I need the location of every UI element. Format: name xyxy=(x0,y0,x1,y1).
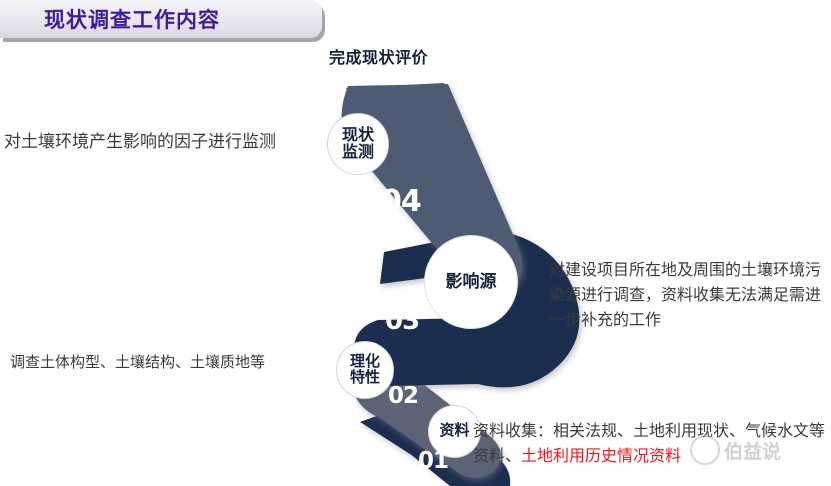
step-number-04: 04 xyxy=(381,184,421,219)
diagram-top-caption: 完成现状评价 xyxy=(329,44,428,68)
step-number-02: 02 xyxy=(388,383,418,409)
page-title: 现状调查工作内容 xyxy=(44,4,220,34)
description-right-bottom-highlight: 土地利用历史情况资料 xyxy=(521,448,681,465)
node-circle-yingxiangyuan[interactable]: 影响源 xyxy=(424,235,518,329)
header-banner: 现状调查工作内容 xyxy=(0,0,322,38)
step-number-01: 01 xyxy=(418,448,448,474)
node-label-line1: 资料 xyxy=(439,423,469,439)
node-circle-xianzhuang-jiance[interactable]: 现状 监测 xyxy=(327,113,389,175)
node-label-line1: 现状 xyxy=(342,127,374,144)
node-label-line2: 监测 xyxy=(342,144,374,161)
node-label-line2: 特性 xyxy=(350,370,380,386)
description-right-bottom: 资料收集：相关法规、土地利用现状、气候水文等资料、土地利用历史情况资料 xyxy=(473,420,831,470)
description-left-bottom: 调查土体构型、土壤结构、土壤质地等 xyxy=(10,352,318,375)
description-right-top: 对建设项目所在地及周围的土壤环境污染源进行调查，资料收集无法满足需进一步补充的工… xyxy=(549,259,831,333)
node-label-line1: 理化 xyxy=(350,354,380,370)
node-label-line1: 影响源 xyxy=(446,273,497,291)
node-circle-lihua-texing[interactable]: 理化 特性 xyxy=(336,341,394,399)
step-number-03: 03 xyxy=(385,306,419,336)
description-left-top: 对土壤环境产生影响的因子进行监测 xyxy=(4,129,314,155)
